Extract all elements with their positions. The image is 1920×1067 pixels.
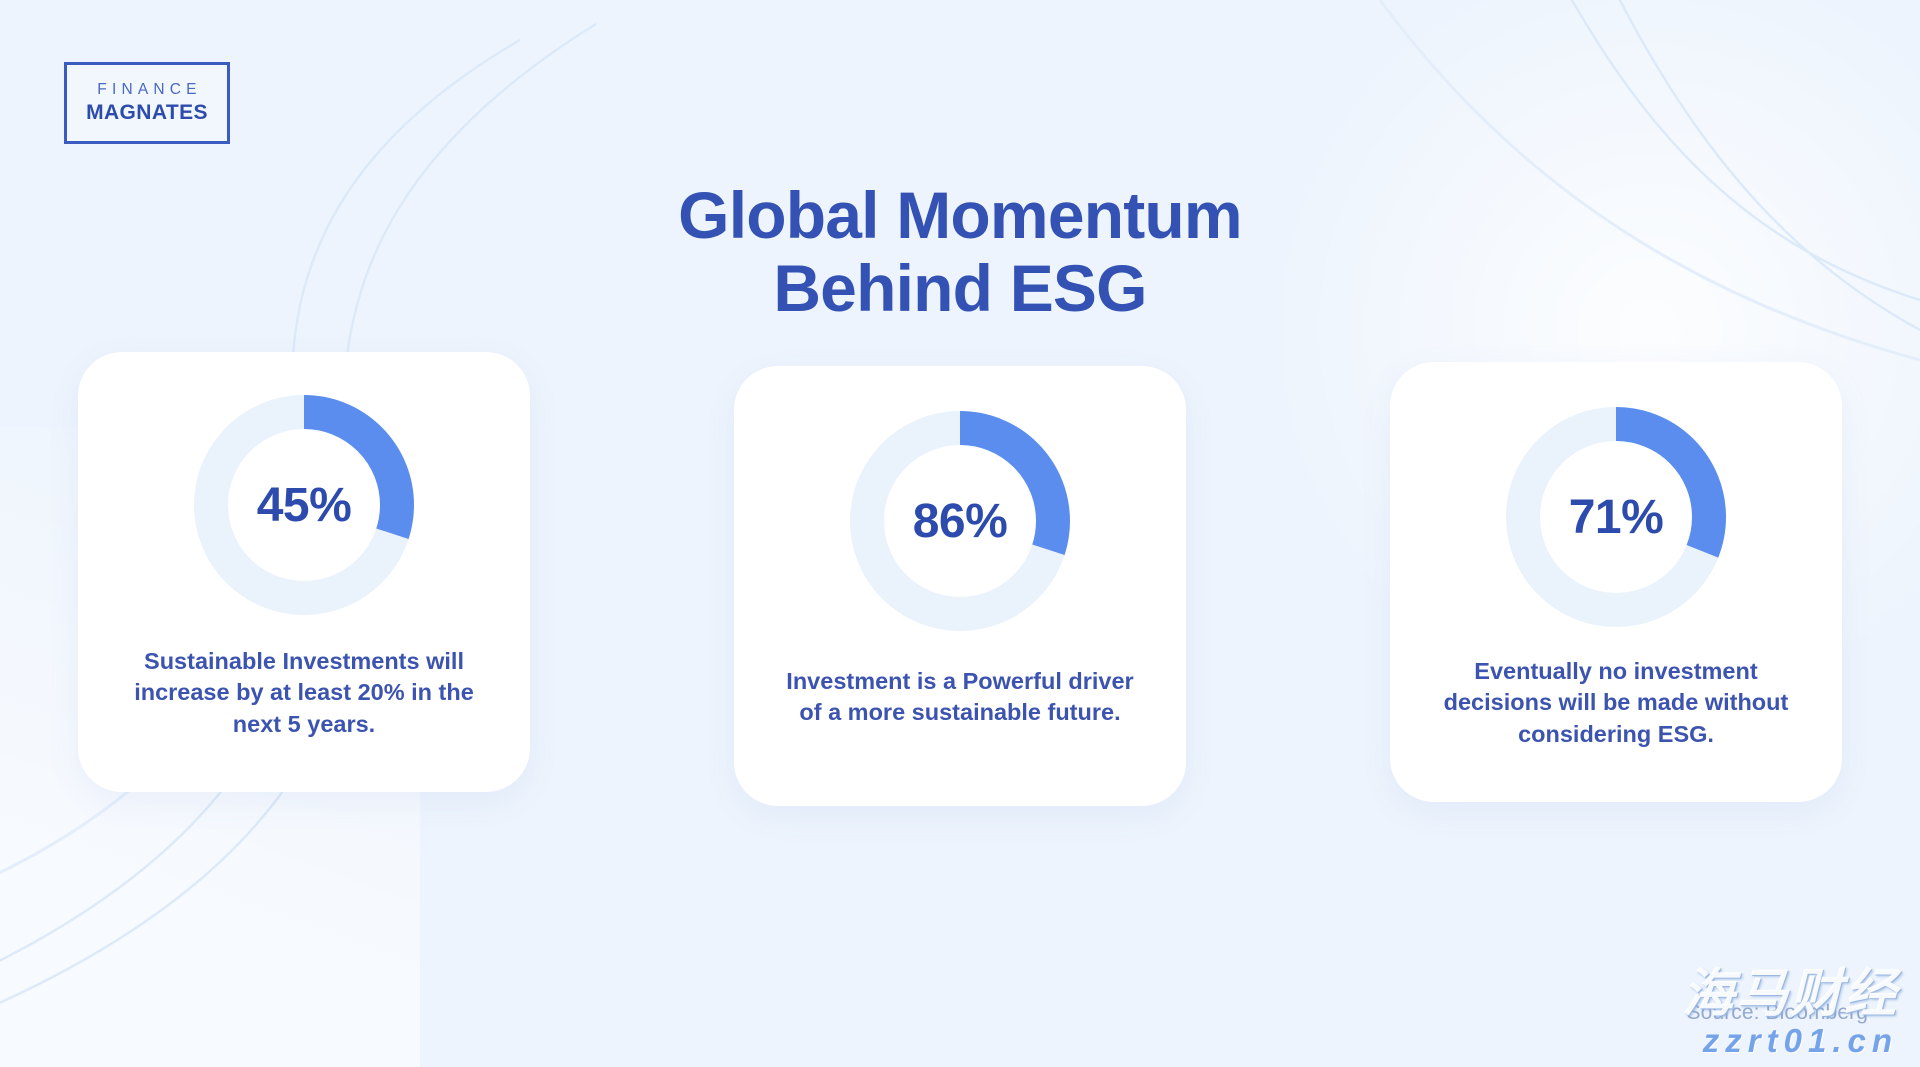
page-title: Global Momentum Behind ESG (0, 179, 1920, 326)
source-attribution: Source: Bloomberg (1687, 1001, 1868, 1025)
donut-chart: 71% (1501, 402, 1731, 632)
stat-card-row: 45% Sustainable Investments will increas… (78, 352, 1842, 806)
donut-value-label: 71% (1501, 402, 1731, 632)
stat-card[interactable]: 86% Investment is a Powerful driver of a… (734, 366, 1186, 806)
stat-card[interactable]: 45% Sustainable Investments will increas… (78, 352, 530, 792)
stat-card-caption: Sustainable Investments will increase by… (118, 646, 490, 740)
logo-line-magnates: MAGNATES (86, 101, 208, 125)
watermark-url: zzrt01.cn (1682, 1024, 1898, 1059)
donut-value-label: 86% (845, 406, 1075, 636)
page-title-line-2: Behind ESG (0, 252, 1920, 325)
donut-chart: 45% (189, 390, 419, 620)
stat-card[interactable]: 71% Eventually no investment decisions w… (1390, 362, 1842, 802)
infographic-canvas: FINANCE MAGNATES Global Momentum Behind … (0, 0, 1920, 1067)
logo-line-finance: FINANCE (92, 81, 201, 99)
brand-logo[interactable]: FINANCE MAGNATES (64, 62, 230, 144)
stat-card-caption: Investment is a Powerful driver of a mor… (774, 666, 1146, 729)
stat-card-caption: Eventually no investment decisions will … (1430, 656, 1802, 750)
donut-value-label: 45% (189, 390, 419, 620)
donut-chart: 86% (845, 406, 1075, 636)
page-title-line-1: Global Momentum (0, 179, 1920, 252)
